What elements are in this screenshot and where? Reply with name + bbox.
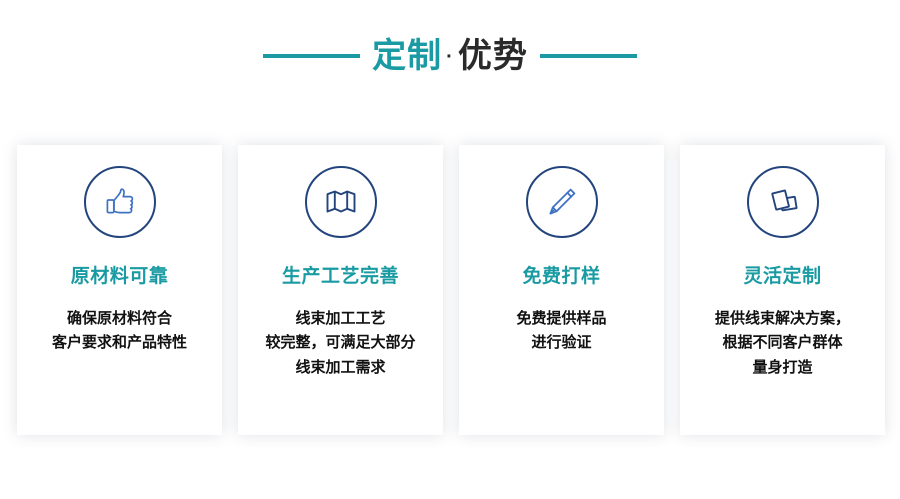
page-title-accent: 定制 xyxy=(372,39,442,73)
feature-card-body-line: 较完整，可满足大部分 xyxy=(242,331,439,355)
feature-card[interactable]: 灵活定制 提供线束解决方案， 根据不同客户群体 量身打造 xyxy=(680,145,885,435)
feature-card-body: 线束加工工艺 较完整，可满足大部分 线束加工需求 xyxy=(238,307,443,380)
feature-card-body-line: 进行验证 xyxy=(463,331,660,355)
page-title-dark: 优势 xyxy=(458,39,528,73)
feature-card-body-line: 客户要求和产品特性 xyxy=(21,331,218,355)
feature-card-body-line: 线束加工工艺 xyxy=(242,307,439,331)
feature-card[interactable]: 生产工艺完善 线束加工工艺 较完整，可满足大部分 线束加工需求 xyxy=(238,145,443,435)
pencil-icon xyxy=(526,166,598,238)
page-title-separator: · xyxy=(442,47,458,67)
feature-card-title: 免费打样 xyxy=(522,267,600,286)
heading-rule-right xyxy=(540,54,637,58)
folded-map-icon xyxy=(305,166,377,238)
feature-card[interactable]: 免费打样 免费提供样品 进行验证 xyxy=(459,145,664,435)
feature-card-title: 灵活定制 xyxy=(743,267,821,286)
feature-card-body-line: 确保原材料符合 xyxy=(21,307,218,331)
feature-card-title: 原材料可靠 xyxy=(71,267,169,286)
feature-card-body: 免费提供样品 进行验证 xyxy=(459,307,664,356)
feature-card-body-line: 根据不同客户群体 xyxy=(684,331,881,355)
feature-card-list: 原材料可靠 确保原材料符合 客户要求和产品特性 生产工艺完善 线束加工工艺 较完… xyxy=(17,145,885,435)
feature-card-body-line: 量身打造 xyxy=(684,356,881,380)
feature-card-body-line: 免费提供样品 xyxy=(463,307,660,331)
stacked-cards-icon xyxy=(747,166,819,238)
section-heading: 定制 · 优势 xyxy=(0,28,900,84)
feature-card-body-line: 线束加工需求 xyxy=(242,356,439,380)
feature-card-title: 生产工艺完善 xyxy=(282,267,399,286)
feature-card-body-line: 提供线束解决方案， xyxy=(684,307,881,331)
feature-card[interactable]: 原材料可靠 确保原材料符合 客户要求和产品特性 xyxy=(17,145,222,435)
feature-card-body: 确保原材料符合 客户要求和产品特性 xyxy=(17,307,222,356)
feature-card-body: 提供线束解决方案， 根据不同客户群体 量身打造 xyxy=(680,307,885,380)
page-title: 定制 · 优势 xyxy=(372,39,528,73)
heading-rule-left xyxy=(263,54,360,58)
thumbs-up-icon xyxy=(84,166,156,238)
